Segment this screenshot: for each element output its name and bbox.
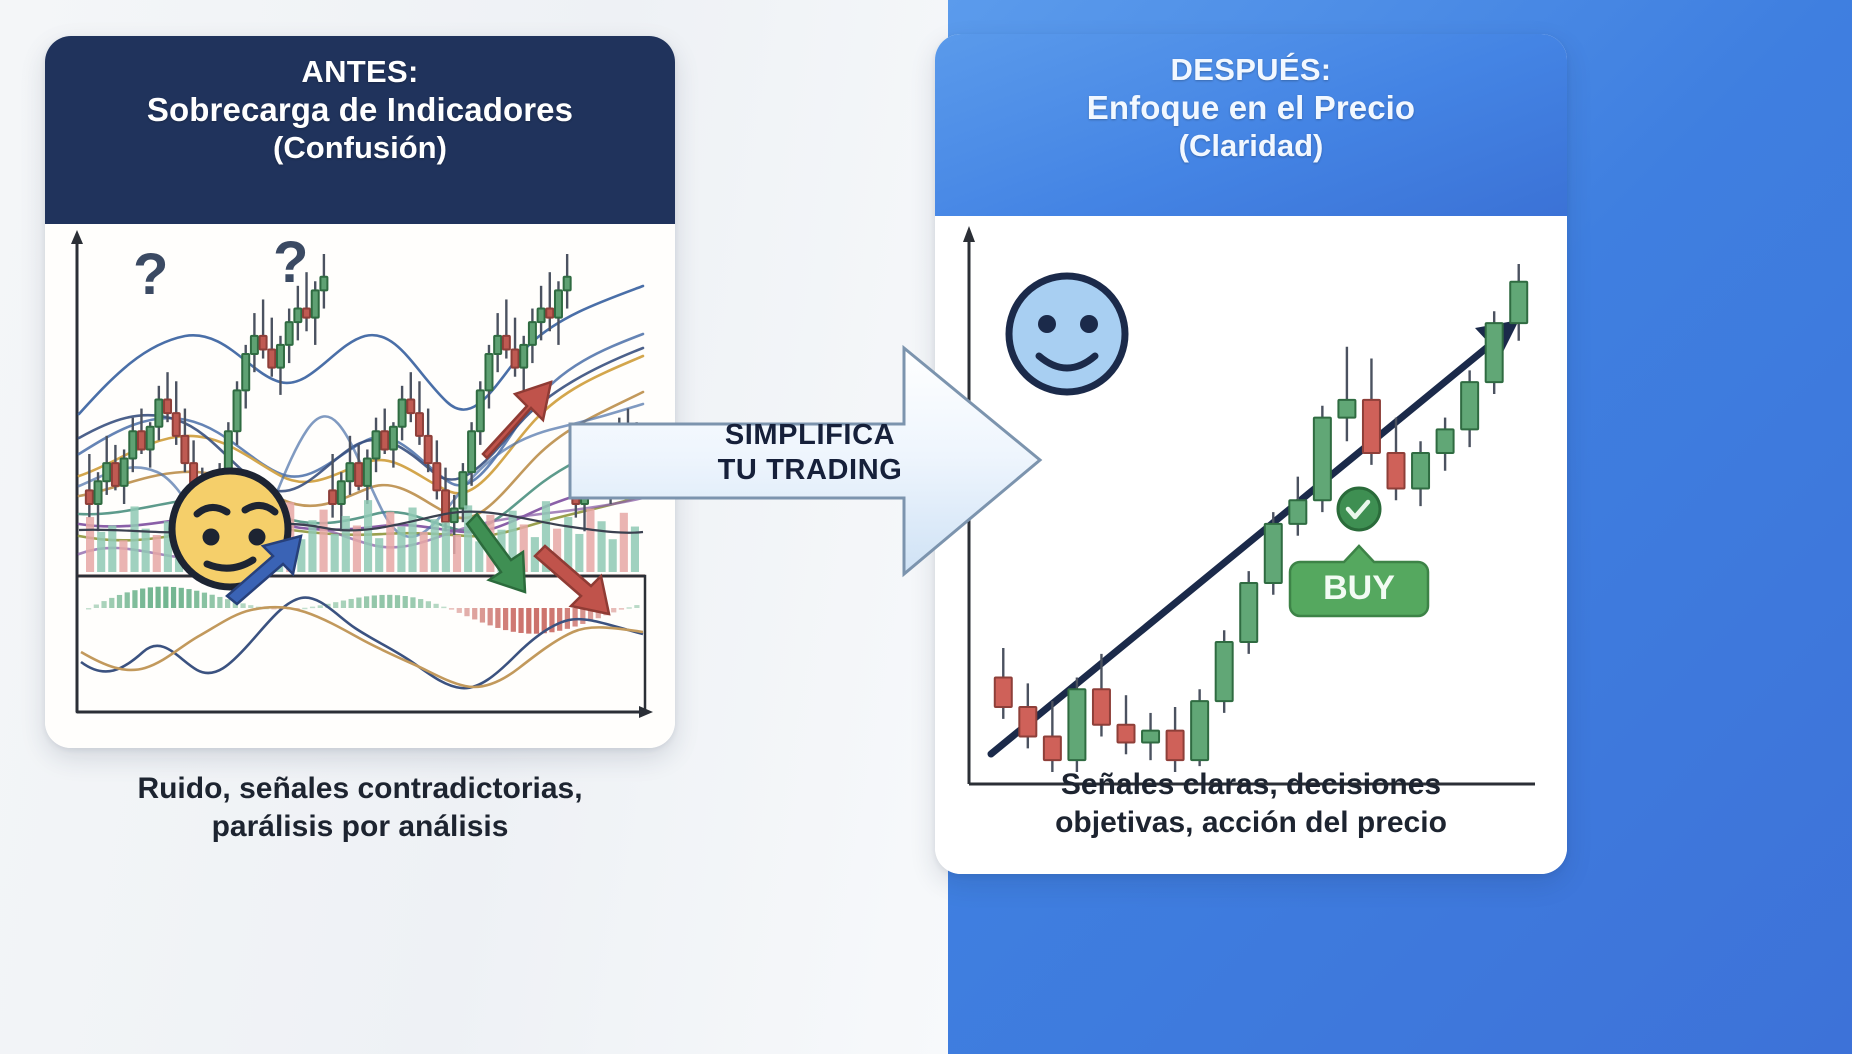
simplify-arrow-label: SIMPLIFICA TU TRADING	[676, 418, 944, 489]
before-header-line: Sobrecarga de Indicadores	[59, 91, 661, 130]
question-mark-icon: ?	[273, 230, 308, 295]
arrow-label-line-1: SIMPLIFICA	[676, 418, 944, 453]
before-card-header: ANTES: Sobrecarga de Indicadores (Confus…	[45, 36, 675, 224]
after-caption-line-2: objetivas, acción del precio	[935, 804, 1567, 842]
before-candlesticks	[86, 254, 640, 554]
arrow-label-line-2: TU TRADING	[676, 453, 944, 488]
after-header-line: Enfoque en el Precio	[949, 89, 1553, 128]
before-macd-histogram	[86, 587, 640, 634]
check-circle-marker	[1338, 488, 1380, 530]
before-caption-line-2: parálisis por análisis	[45, 808, 675, 846]
before-header-kicker: ANTES:	[59, 54, 661, 91]
buy-badge[interactable]: BUY	[1290, 546, 1428, 616]
after-caption: Señales claras, decisiones objetivas, ac…	[935, 766, 1567, 843]
after-header-kicker: DESPUÉS:	[949, 52, 1553, 89]
before-caption-line-1: Ruido, señales contradictorias,	[45, 770, 675, 808]
question-mark-icon: ?	[133, 242, 168, 307]
red-up-arrow	[483, 382, 551, 458]
after-caption-line-1: Señales claras, decisiones	[935, 766, 1567, 804]
before-caption: Ruido, señales contradictorias, parálisi…	[45, 770, 675, 847]
after-header-sub: (Claridad)	[949, 128, 1553, 165]
buy-badge-label: BUY	[1323, 569, 1395, 607]
after-card-header: DESPUÉS: Enfoque en el Precio (Claridad)	[935, 34, 1567, 216]
macd-panel-frame	[77, 576, 645, 712]
before-header-sub: (Confusión)	[59, 130, 661, 167]
